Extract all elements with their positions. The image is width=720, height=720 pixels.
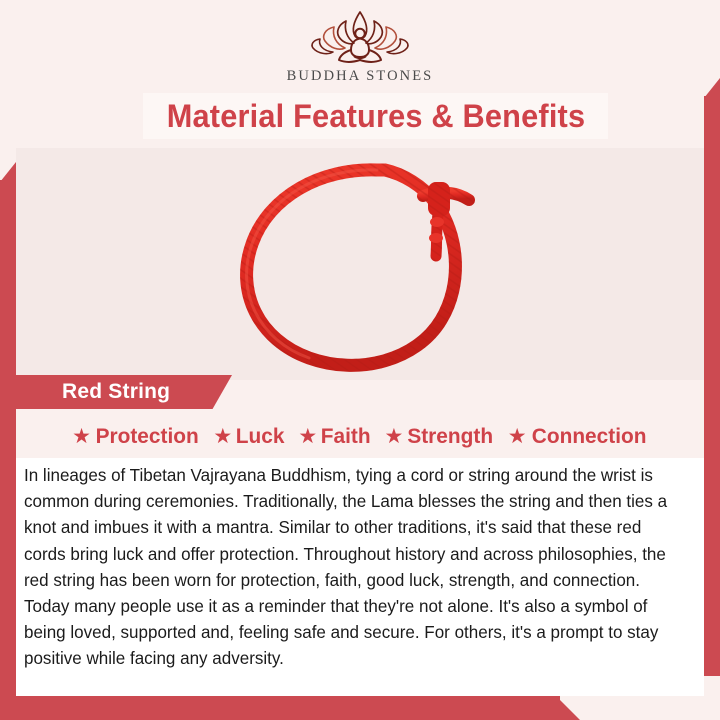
infographic-canvas: BUDDHA STONES Material Features & Benefi… [0, 0, 720, 720]
benefit-label: Faith [321, 424, 371, 449]
description-card: In lineages of Tibetan Vajrayana Buddhis… [16, 458, 704, 696]
star-icon: ★ [385, 426, 404, 447]
brand-wordmark: BUDDHA STONES [287, 68, 434, 85]
benefits-list: ★ Protection ★ Luck ★ Faith ★ Strength ★… [16, 416, 704, 456]
benefit-label: Connection [531, 424, 646, 449]
star-icon: ★ [72, 426, 91, 447]
benefit-label: Protection [96, 424, 199, 449]
benefit-item-protection: ★ Protection [72, 424, 200, 449]
star-icon: ★ [213, 426, 232, 447]
star-icon: ★ [508, 426, 527, 447]
product-image [0, 148, 720, 380]
brand-logo: BUDDHA STONES [0, 8, 720, 94]
description-paragraph: In lineages of Tibetan Vajrayana Buddhis… [24, 462, 680, 672]
right-frame-bar [704, 96, 720, 676]
benefit-item-luck: ★ Luck [213, 424, 285, 449]
title-banner: Material Features & Benefits [143, 93, 608, 139]
benefit-item-strength: ★ Strength [385, 424, 495, 449]
page-title: Material Features & Benefits [166, 98, 585, 135]
benefit-item-connection: ★ Connection [508, 424, 648, 449]
lotus-meditation-icon [308, 8, 412, 66]
benefit-label: Strength [408, 424, 494, 449]
benefit-item-faith: ★ Faith [298, 424, 371, 449]
product-name-ribbon: Red String [16, 375, 232, 409]
product-name-label: Red String [62, 380, 170, 404]
red-braided-cord-bracelet-icon [225, 152, 495, 377]
benefit-label: Luck [236, 424, 285, 449]
left-frame-bar [0, 180, 16, 720]
star-icon: ★ [298, 426, 317, 447]
